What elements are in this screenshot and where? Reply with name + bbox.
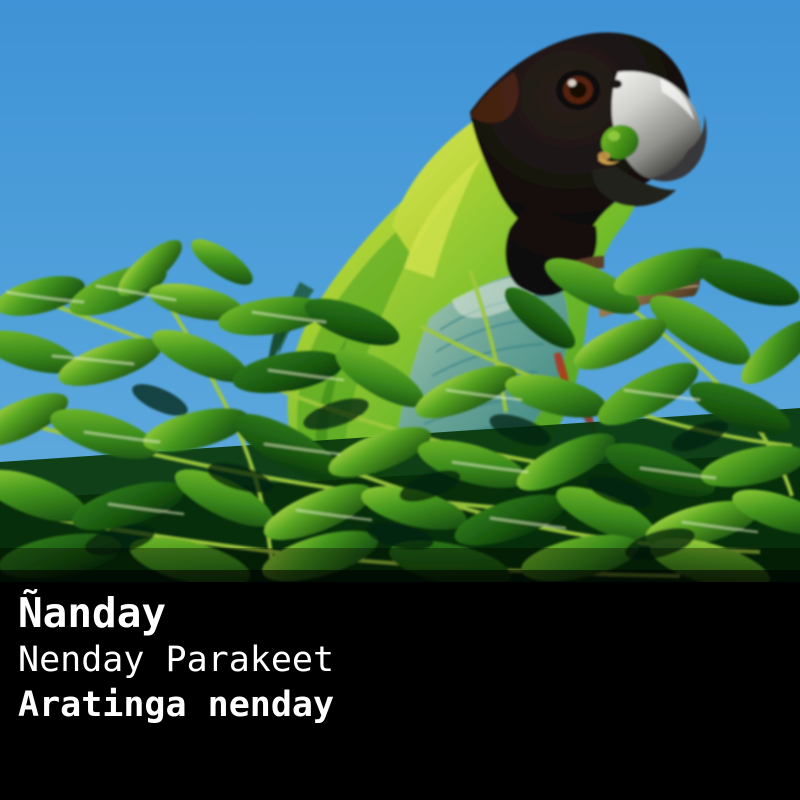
english-name: Nenday Parakeet <box>18 637 334 683</box>
scientific-name: Aratinga nenday <box>18 683 334 728</box>
bird-photograph <box>0 0 800 582</box>
common-name: Ñanday <box>18 590 334 637</box>
photo-illustration <box>0 0 800 582</box>
caption-band: Ñanday Nenday Parakeet Aratinga nenday <box>0 582 800 800</box>
bird-eye <box>556 70 600 110</box>
photo-caption-card: Ñanday Nenday Parakeet Aratinga nenday <box>0 0 800 800</box>
species-title-block: Ñanday Nenday Parakeet Aratinga nenday <box>18 590 334 728</box>
